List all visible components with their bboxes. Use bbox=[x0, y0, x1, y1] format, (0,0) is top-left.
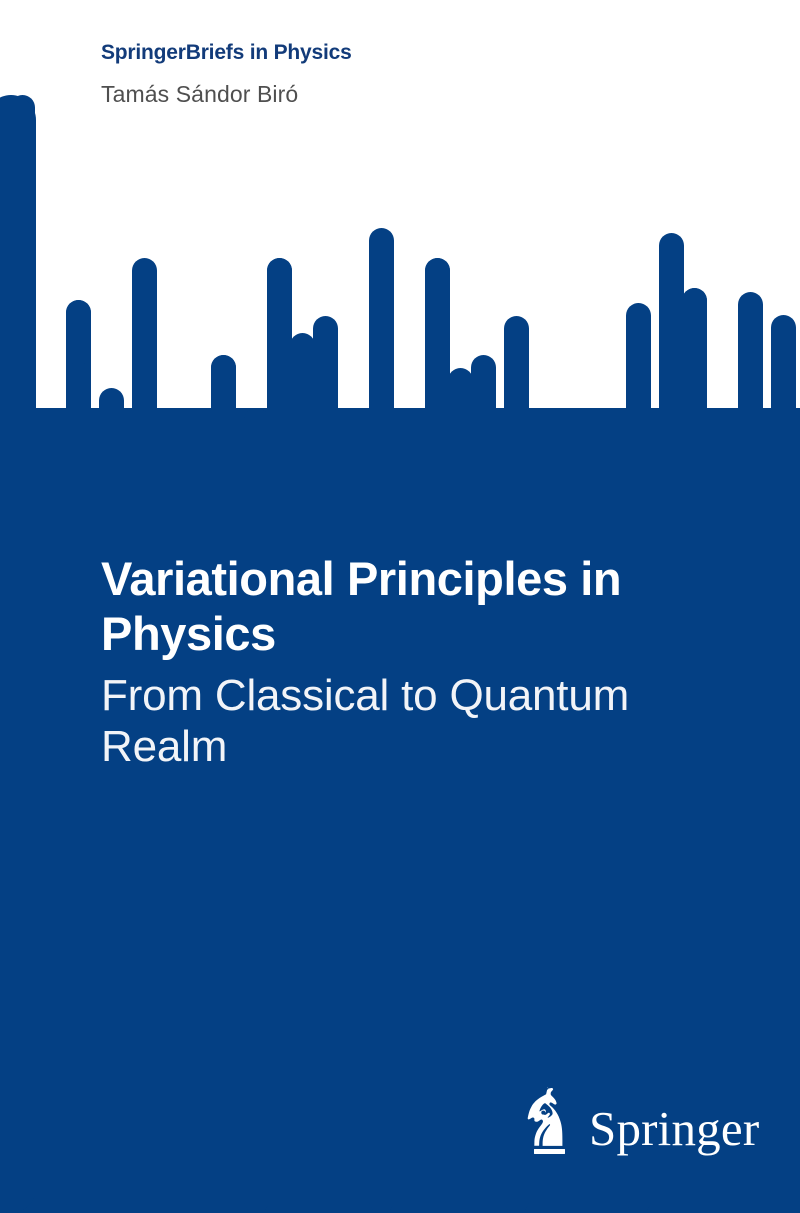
springer-wordmark: Springer bbox=[589, 1104, 759, 1153]
pattern-bar bbox=[188, 408, 213, 1213]
book-title: Variational Principles in Physics bbox=[101, 552, 741, 662]
pattern-bar bbox=[43, 408, 68, 1213]
pattern-bar bbox=[346, 408, 371, 1213]
series-label: SpringerBriefs in Physics bbox=[101, 41, 352, 65]
pattern-accent-dot bbox=[211, 355, 236, 380]
pattern-bar bbox=[290, 333, 315, 1213]
pattern-bar bbox=[738, 292, 763, 1213]
pattern-left-edge-bar bbox=[0, 95, 36, 1213]
pattern-bar bbox=[244, 408, 269, 1213]
pattern-bar bbox=[402, 408, 427, 1213]
pattern-accent-dot bbox=[682, 288, 707, 320]
book-subtitle: From Classical to Quantum Realm bbox=[101, 670, 741, 773]
springer-logo: Springer bbox=[518, 1083, 740, 1159]
pattern-bar bbox=[66, 362, 91, 1213]
title-block: Variational Principles in Physics From C… bbox=[101, 552, 741, 773]
pattern-bar bbox=[165, 408, 190, 1213]
pattern-bar bbox=[471, 355, 496, 1213]
pattern-accent-dot bbox=[66, 300, 91, 325]
pattern-accent-dot bbox=[267, 258, 292, 336]
pattern-bar bbox=[448, 368, 473, 1213]
author-name: Tamás Sándor Biró bbox=[101, 81, 298, 108]
pattern-bar bbox=[211, 355, 236, 1213]
pattern-accent-dot bbox=[425, 258, 450, 350]
book-cover: SpringerBriefs in Physics Tamás Sándor B… bbox=[0, 0, 800, 1213]
springer-knight-icon bbox=[518, 1087, 580, 1159]
pattern-bar bbox=[771, 315, 796, 1213]
pattern-bar bbox=[99, 388, 124, 1213]
